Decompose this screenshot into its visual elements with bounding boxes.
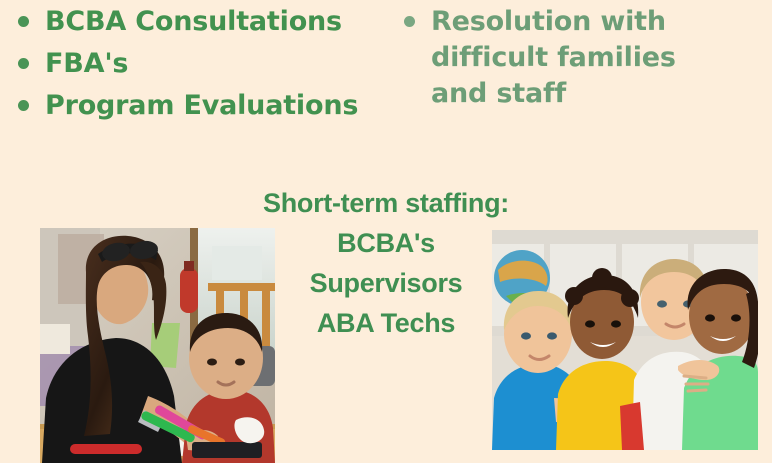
- bullet-dot-icon: [18, 16, 29, 27]
- bullet-label: Program Evaluations: [45, 88, 358, 124]
- photo-therapist-with-child: [40, 228, 275, 463]
- staffing-block: Short-term staffing: BCBA's Supervisors …: [236, 183, 536, 343]
- bullet-list-right: Resolution with difficult families and s…: [404, 4, 734, 118]
- bullet-dot-icon: [404, 16, 415, 27]
- list-item: Program Evaluations: [18, 88, 390, 124]
- list-item: Resolution with difficult families and s…: [404, 4, 734, 112]
- bullet-dot-icon: [18, 100, 29, 111]
- photo-children-hugging: [492, 230, 758, 450]
- bullet-dot-icon: [18, 58, 29, 69]
- staffing-heading: Short-term staffing:: [236, 183, 536, 223]
- list-item: BCBA Consultations: [18, 4, 390, 40]
- bullet-label: BCBA Consultations: [45, 4, 342, 40]
- slide-canvas: BCBA Consultations FBA's Program Evaluat…: [0, 0, 772, 463]
- staffing-role: Supervisors: [236, 263, 536, 303]
- list-item: FBA's: [18, 46, 390, 82]
- staffing-role: ABA Techs: [236, 303, 536, 343]
- bullet-list-left: BCBA Consultations FBA's Program Evaluat…: [18, 4, 390, 130]
- bullet-label: Resolution with difficult families and s…: [431, 4, 734, 112]
- bullet-label: FBA's: [45, 46, 128, 82]
- staffing-role: BCBA's: [236, 223, 536, 263]
